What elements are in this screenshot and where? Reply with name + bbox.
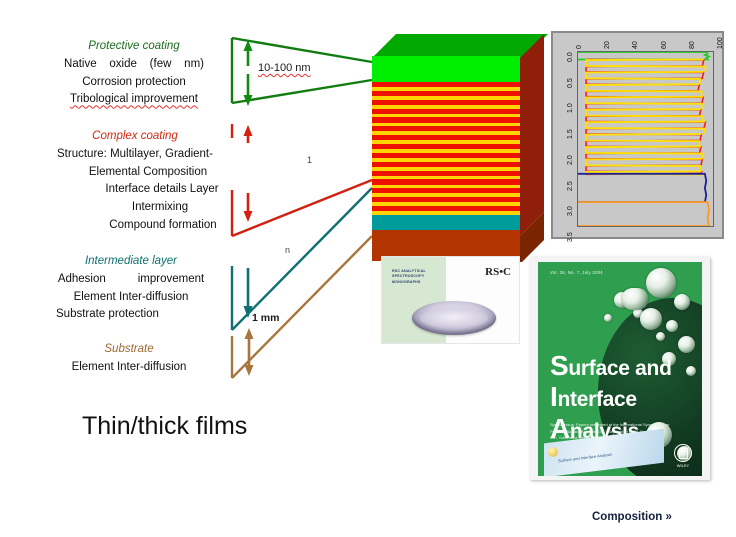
chart-x-tick: 80 — [689, 41, 696, 49]
text-block-substrate: Substrate Element Inter-diffusion — [36, 341, 222, 377]
chart-y-tick: 1.0 — [567, 104, 574, 114]
wiley-label: WILEY — [677, 463, 689, 468]
composition-link[interactable]: Composition » — [592, 511, 672, 523]
sia-title-row-2: Interface — [550, 381, 672, 412]
block-line: Element Inter-diffusion — [36, 359, 222, 377]
arrow-green-down-head — [244, 95, 253, 106]
chart-series-line — [586, 109, 703, 121]
bubble-icon — [646, 268, 676, 298]
bubble-icon — [622, 288, 648, 310]
rsc-series-caption: RSC ANALYTICAL SPECTROSCOPY MONOGRAPHS — [392, 269, 444, 285]
arrow-brown-down-head — [245, 365, 254, 376]
chart-series-line — [578, 202, 709, 226]
rsc-publisher-logo: RS•C — [485, 266, 511, 278]
rsc-book-thumbnail: RSC ANALYTICAL SPECTROSCOPY MONOGRAPHS R… — [381, 256, 520, 344]
block-heading-protective-coating: Protective coating — [34, 38, 234, 56]
chart-y-tick: 0.5 — [567, 78, 574, 88]
chart-series-line — [586, 84, 702, 96]
depth-profile-chart: 020406080100 0.00.51.01.52.02.53.03.5 — [551, 31, 724, 239]
bubble-icon — [674, 294, 690, 310]
chart-series-line — [586, 159, 702, 171]
label-scale-bottom: 1 mm — [252, 312, 279, 324]
block-line: Intermixing — [22, 199, 248, 217]
block-line: Structure: Multilayer, Gradient- — [22, 146, 248, 164]
block-line: Interface details Layer — [22, 181, 248, 199]
chart-y-tick: 3.0 — [567, 207, 574, 217]
sia-title-rest-1: urface and — [568, 357, 671, 380]
chart-series-line — [586, 146, 703, 158]
stack-front-face — [372, 56, 520, 261]
text-block-protective-coating: Protective coating Native oxide (few nm)… — [34, 38, 234, 109]
block-line: Tribological improvement — [34, 91, 234, 109]
bubble-icon — [678, 336, 695, 353]
chart-series-paths — [578, 52, 713, 226]
chart-y-tick: 2.0 — [567, 155, 574, 165]
wiley-publisher-logo: WILEY — [673, 444, 693, 466]
block-heading-intermediate-layer: Intermediate layer — [36, 253, 226, 271]
stack-layer-intermediate — [372, 215, 520, 230]
chart-series-line — [586, 59, 705, 71]
chart-series-line — [586, 72, 703, 84]
chart-series-line — [586, 122, 705, 134]
arrow-green-up-head — [244, 40, 253, 51]
bubble-icon — [666, 320, 678, 332]
callout-red — [232, 124, 372, 236]
block-heading-complex-coating: Complex coating — [22, 128, 248, 146]
block-heading-substrate: Substrate — [36, 341, 222, 359]
slide-canvas: Protective coating Native oxide (few nm)… — [0, 0, 736, 537]
block-line: Compound formation — [22, 217, 248, 235]
chart-series-line — [578, 174, 706, 202]
chart-x-tick: 60 — [661, 41, 668, 49]
chart-series-line — [586, 97, 703, 109]
stack-layer-multilayer — [372, 82, 520, 215]
bubble-icon — [604, 314, 612, 322]
label-scale-top: 10-100 nm — [258, 62, 311, 74]
chart-x-tick: 20 — [604, 41, 611, 49]
marker-layer-first: 1 — [307, 155, 312, 165]
marker-layer-n: n — [285, 245, 290, 255]
block-line: Elemental Composition — [22, 164, 248, 182]
chart-y-tick: 3.5 — [567, 232, 574, 242]
arrow-brown-up-head — [245, 328, 254, 339]
sia-journal-cover: Vol. 36, No. 7, July 2004 Surface and In… — [530, 257, 710, 480]
page-title: Thin/thick films — [82, 412, 247, 441]
chart-x-tick: 100 — [717, 37, 724, 49]
text-block-complex-coating: Complex coating Structure: Multilayer, G… — [22, 128, 248, 235]
chart-y-tick: 0.0 — [567, 52, 574, 62]
block-line: Corrosion protection — [34, 74, 234, 92]
chart-y-tick: 2.5 — [567, 181, 574, 191]
bubble-icon — [686, 366, 696, 376]
block-line: Element Inter-diffusion — [36, 289, 226, 307]
sia-cap-s: S — [550, 350, 568, 381]
sia-issue-line: Vol. 36, No. 7, July 2004 — [550, 270, 603, 275]
sia-title-rest-2: nterface — [557, 388, 636, 411]
chart-series-line — [586, 134, 701, 146]
chart-series-line — [578, 52, 709, 59]
stack-side-face — [520, 30, 548, 262]
bubble-icon — [656, 332, 665, 341]
chart-x-tick: 0 — [576, 45, 583, 49]
block-line: Native oxide (few nm) — [34, 56, 234, 74]
chart-x-tick: 40 — [632, 41, 639, 49]
chart-plot-area — [577, 51, 714, 227]
layer-stack-3d — [372, 30, 548, 260]
stack-layer-protective — [372, 56, 520, 82]
sia-band-emblem-icon — [548, 447, 558, 457]
wiley-mark-icon — [674, 444, 692, 462]
chart-y-tick: 1.5 — [567, 129, 574, 139]
sia-cover-art: Vol. 36, No. 7, July 2004 Surface and In… — [538, 262, 702, 476]
sia-title-row-1: Surface and — [550, 350, 672, 381]
text-block-intermediate-layer: Intermediate layer Adhesion improvement … — [36, 253, 226, 324]
callout-teal — [232, 188, 372, 330]
sputter-crater-image — [412, 301, 496, 335]
callout-brown — [232, 236, 372, 378]
bubble-icon — [640, 308, 662, 330]
block-line: Substrate protection — [36, 306, 226, 324]
block-line: Adhesion improvement — [36, 271, 226, 289]
